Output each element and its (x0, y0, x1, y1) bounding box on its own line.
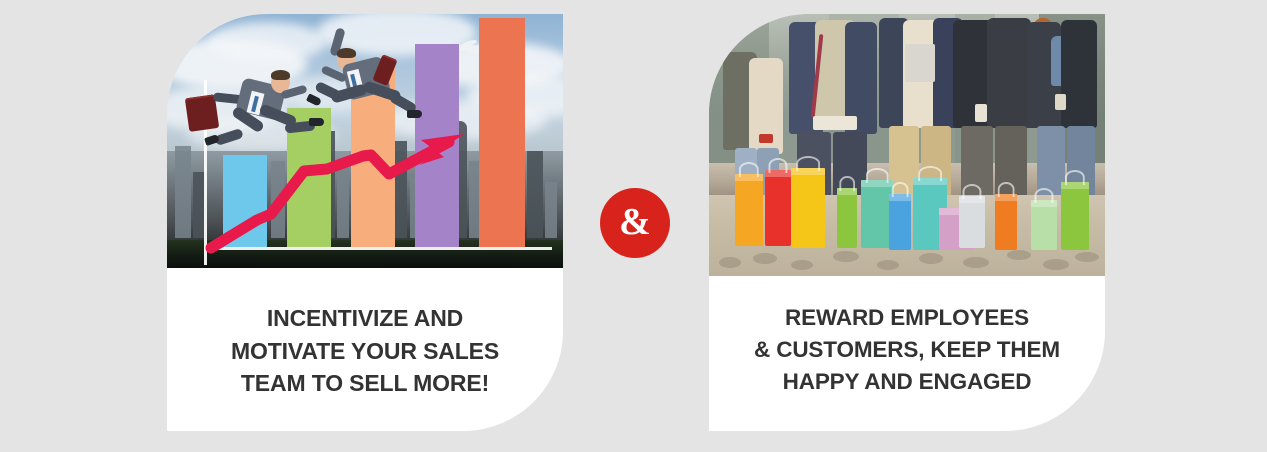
people-shopping-photo (709, 14, 1105, 276)
caption-line-2: & CUSTOMERS, KEEP THEM (731, 334, 1083, 366)
shopping-bag (1061, 182, 1089, 250)
book-icon (813, 116, 857, 130)
tablet-icon (905, 44, 935, 82)
phone-icon (759, 134, 773, 143)
card-incentivize-caption: INCENTIVIZE AND MOTIVATE YOUR SALES TEAM… (167, 302, 563, 400)
caption-line-1: REWARD EMPLOYEES (731, 302, 1083, 334)
shopping-bag (791, 168, 825, 248)
shopping-bag (735, 174, 763, 246)
card-incentivize[interactable]: INCENTIVIZE AND MOTIVATE YOUR SALES TEAM… (167, 14, 563, 431)
caption-line-2: MOTIVATE YOUR SALES (189, 335, 541, 368)
shopping-bag (889, 194, 911, 250)
card-reward-caption: REWARD EMPLOYEES & CUSTOMERS, KEEP THEM … (709, 302, 1105, 398)
phone-icon (975, 104, 987, 122)
businessman-left (187, 70, 307, 160)
growth-chart-photo (167, 14, 563, 268)
shopping-bag (837, 188, 857, 248)
ampersand-connector-badge: & (600, 188, 670, 258)
caption-line-3: HAPPY AND ENGAGED (731, 366, 1083, 398)
shopping-bag (1031, 200, 1057, 250)
shopping-bag (959, 196, 985, 248)
shopping-bag (995, 194, 1017, 250)
caption-line-1: INCENTIVIZE AND (189, 302, 541, 335)
poster-canvas: INCENTIVIZE AND MOTIVATE YOUR SALES TEAM… (0, 0, 1267, 452)
businessman-right (307, 26, 422, 126)
ampersand-label: & (619, 203, 651, 241)
phone-icon (1055, 94, 1066, 110)
card-reward[interactable]: REWARD EMPLOYEES & CUSTOMERS, KEEP THEM … (709, 14, 1105, 431)
shopping-bag (765, 170, 791, 246)
caption-line-3: TEAM TO SELL MORE! (189, 367, 541, 400)
